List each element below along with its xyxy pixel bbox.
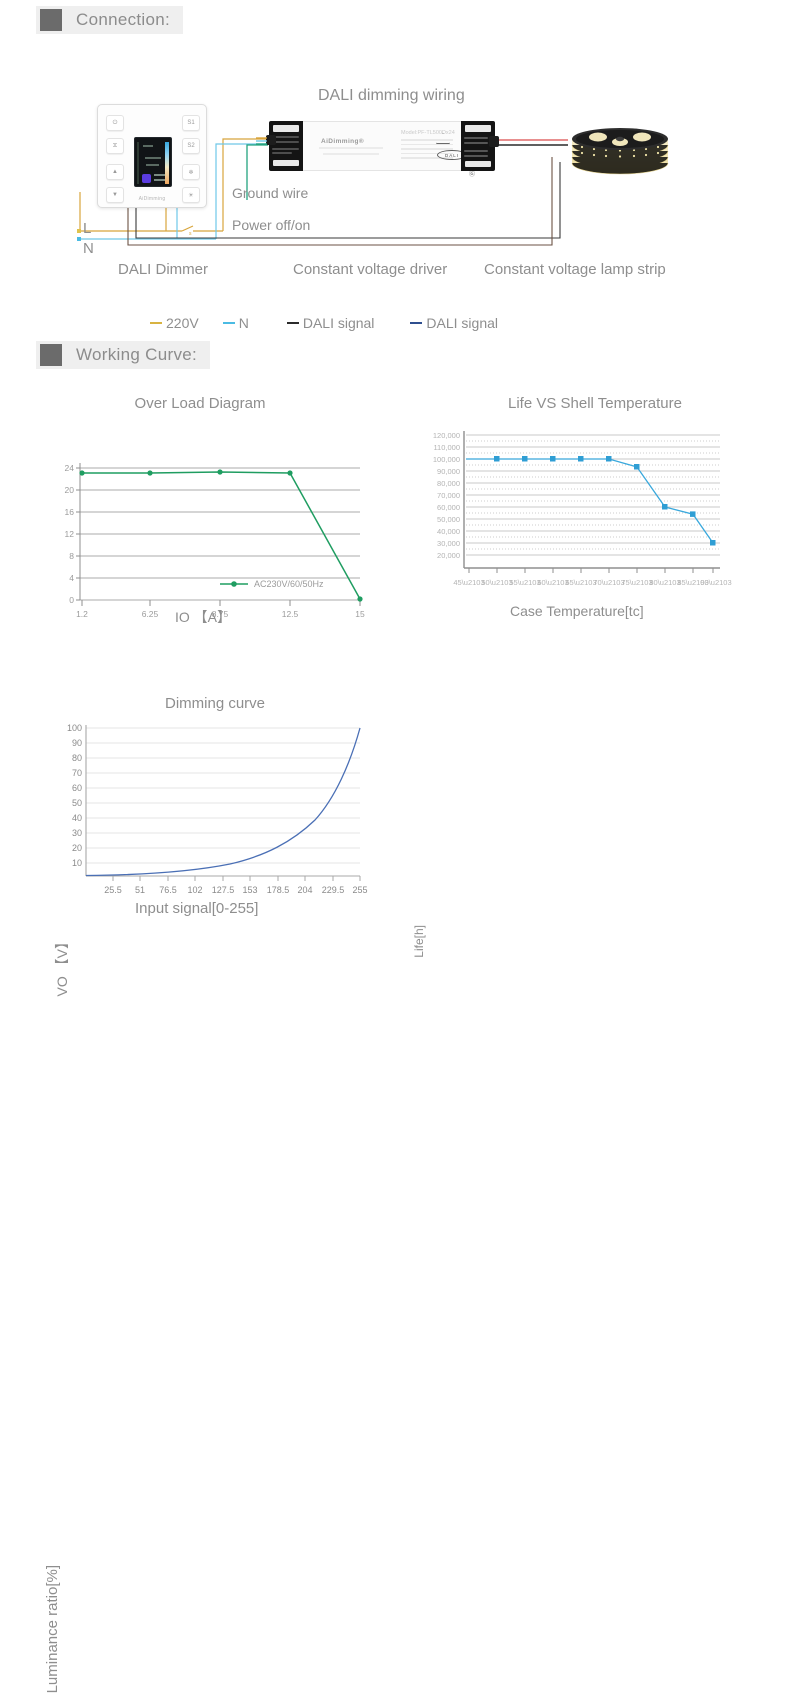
- legend-dash-dali-blue: [410, 322, 422, 324]
- svg-text:127.5: 127.5: [212, 885, 235, 895]
- svg-text:40,000: 40,000: [437, 527, 460, 536]
- svg-text:4: 4: [69, 573, 74, 583]
- section-header-working-curve: Working Curve:: [36, 341, 210, 369]
- svg-text:0: 0: [69, 595, 74, 605]
- svg-text:70\u2103: 70\u2103: [593, 578, 624, 587]
- dimmer-display: [134, 137, 172, 187]
- dali-dimmer-panel[interactable]: ⏻ ⧖ ▲ ▼ S1 S2 ❄ ☀ AiDimming: [97, 104, 207, 208]
- svg-text:25.5: 25.5: [104, 885, 122, 895]
- wiring-legend: 220V N DALI signal DALI signal: [150, 315, 498, 331]
- svg-text:70,000: 70,000: [437, 491, 460, 500]
- svg-text:229.5: 229.5: [322, 885, 345, 895]
- scene1-button[interactable]: S1: [182, 115, 200, 131]
- chart-title-overload: Over Load Diagram: [30, 395, 370, 412]
- scene2-button[interactable]: S2: [182, 138, 200, 154]
- svg-text:76.5: 76.5: [159, 885, 177, 895]
- axis-label-x-life: Case Temperature[tc]: [510, 603, 644, 619]
- svg-text:100,000: 100,000: [433, 455, 460, 464]
- svg-text:204: 204: [297, 885, 312, 895]
- driver-brand-label: AiDimming®: [321, 138, 364, 145]
- driver-output-cable: [489, 134, 505, 152]
- device-label-dimmer: DALI Dimmer: [118, 261, 208, 278]
- svg-text:6.25: 6.25: [142, 609, 159, 619]
- legend-label-dali-black: DALI signal: [303, 315, 375, 331]
- svg-text:60,000: 60,000: [437, 503, 460, 512]
- svg-text:90: 90: [72, 738, 82, 748]
- driver-input-cable: [256, 132, 276, 150]
- svg-text:20,000: 20,000: [437, 551, 460, 560]
- ground-wire-label: Ground wire: [232, 185, 308, 201]
- chart-legend-overload: AC230V/60/50Hz: [254, 579, 324, 589]
- svg-text:12.5: 12.5: [282, 609, 299, 619]
- power-switch-label: Power off/on: [232, 217, 310, 233]
- svg-text:45\u2103: 45\u2103: [453, 578, 484, 587]
- axis-label-y-dimming: Luminance ratio[%]: [44, 1565, 61, 1693]
- constant-voltage-driver: AiDimming® Model:PF-TL500Dx24 DALI IP42 …: [269, 121, 495, 171]
- timer-icon[interactable]: ⧖: [106, 138, 124, 154]
- legend-item-220v: 220V: [150, 315, 199, 331]
- svg-text:60\u2103: 60\u2103: [537, 578, 568, 587]
- svg-text:102: 102: [187, 885, 202, 895]
- svg-text:s: s: [189, 231, 192, 237]
- svg-text:10: 10: [72, 858, 82, 868]
- chart-plot-dimming: 1009080 706050 403020 10: [30, 720, 400, 910]
- dimmer-brand-label: AiDimming: [98, 196, 206, 202]
- driver-label-face: AiDimming® Model:PF-TL500Dx24 DALI IP42 …: [303, 121, 461, 171]
- svg-text:120,000: 120,000: [433, 431, 460, 440]
- chart-dimming-curve: Dimming curve Luminance ratio[%] 1009080…: [30, 695, 400, 930]
- svg-text:100: 100: [67, 723, 82, 733]
- line-N-label: N: [83, 240, 94, 257]
- svg-text:24: 24: [65, 463, 75, 473]
- svg-text:1.2: 1.2: [76, 609, 88, 619]
- svg-text:80\u2103: 80\u2103: [649, 578, 680, 587]
- arrow-up-icon[interactable]: ▲: [106, 164, 124, 180]
- svg-text:153: 153: [242, 885, 257, 895]
- chart-title-life: Life VS Shell Temperature: [430, 395, 760, 412]
- svg-text:60: 60: [72, 783, 82, 793]
- wiring-diagram: DALI dimming wiring s ⏻ ⧖: [0, 40, 793, 300]
- svg-text:75\u2103: 75\u2103: [621, 578, 652, 587]
- legend-item-dali-black: DALI signal: [287, 315, 375, 331]
- section-marker-square: [40, 9, 62, 31]
- section-header-connection: Connection:: [36, 6, 183, 34]
- constant-voltage-lamp-strip: [568, 122, 672, 182]
- svg-text:50,000: 50,000: [437, 515, 460, 524]
- svg-text:51: 51: [135, 885, 145, 895]
- axis-label-y-overload: VO 【V】: [52, 935, 72, 996]
- device-label-driver: Constant voltage driver: [293, 261, 447, 278]
- svg-text:65\u2103: 65\u2103: [565, 578, 596, 587]
- section-title-working-curve: Working Curve:: [76, 345, 197, 365]
- snowflake-icon[interactable]: ❄: [182, 164, 200, 180]
- section-marker-square-2: [40, 344, 62, 366]
- legend-item-n: N: [223, 315, 249, 331]
- legend-label-220v: 220V: [166, 315, 199, 331]
- axis-label-x-overload: IO 【A】: [175, 607, 231, 627]
- legend-label-n: N: [239, 315, 249, 331]
- legend-dash-220v: [150, 322, 162, 324]
- section-title-connection: Connection:: [76, 10, 170, 30]
- svg-text:15: 15: [355, 609, 365, 619]
- svg-text:90\u2103: 90\u2103: [700, 578, 731, 587]
- svg-text:16: 16: [65, 507, 75, 517]
- svg-text:110,000: 110,000: [433, 443, 460, 452]
- svg-text:255: 255: [352, 885, 367, 895]
- legend-dash-dali-black: [287, 322, 299, 324]
- legend-label-dali-blue: DALI signal: [426, 315, 498, 331]
- svg-text:90,000: 90,000: [437, 467, 460, 476]
- axis-label-y-life: Life[h]: [412, 925, 426, 958]
- driver-model-label: Model:PF-TL500Dx24: [401, 130, 455, 136]
- chart-plot-life: 120,000110,000100,000 90,00080,00070,000…: [400, 423, 790, 623]
- svg-text:12: 12: [65, 529, 75, 539]
- svg-text:178.5: 178.5: [267, 885, 290, 895]
- svg-text:50\u2103: 50\u2103: [481, 578, 512, 587]
- svg-text:20: 20: [65, 485, 75, 495]
- device-label-lamp-strip: Constant voltage lamp strip: [484, 261, 666, 278]
- svg-text:30: 30: [72, 828, 82, 838]
- svg-text:80,000: 80,000: [437, 479, 460, 488]
- chart-title-dimming: Dimming curve: [60, 695, 370, 712]
- line-L-label: L: [83, 220, 91, 237]
- chart-over-load-diagram: Over Load Diagram VO 【V】 242016 1284 0: [30, 395, 400, 630]
- svg-text:50: 50: [72, 798, 82, 808]
- legend-dash-n: [223, 322, 235, 324]
- svg-text:55\u2103: 55\u2103: [509, 578, 540, 587]
- chart-plot-overload: 242016 1284 0: [30, 423, 400, 623]
- axis-label-x-dimming: Input signal[0-255]: [135, 900, 258, 917]
- chart-life-vs-shell-temperature: Life VS Shell Temperature Life[h] 120,00…: [400, 395, 790, 630]
- svg-text:40: 40: [72, 813, 82, 823]
- svg-text:8: 8: [69, 551, 74, 561]
- power-icon[interactable]: ⏻: [106, 115, 124, 131]
- svg-text:30,000: 30,000: [437, 539, 460, 548]
- svg-text:70: 70: [72, 768, 82, 778]
- svg-text:80: 80: [72, 753, 82, 763]
- svg-text:20: 20: [72, 843, 82, 853]
- legend-item-dali-blue: DALI signal: [410, 315, 498, 331]
